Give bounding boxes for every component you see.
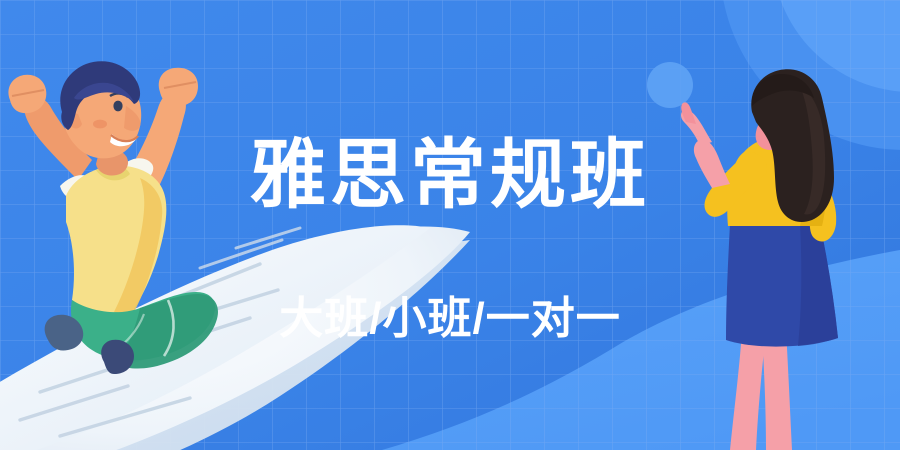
woman-leg-right — [762, 330, 792, 450]
banner-illustrations — [0, 0, 900, 450]
woman-forearm — [694, 140, 730, 188]
man-eye — [113, 101, 122, 112]
woman-skirt-shade — [798, 224, 838, 346]
man-cheek — [93, 120, 107, 129]
man-right-fist — [159, 68, 198, 106]
illustration-woman-pointing — [681, 69, 838, 450]
woman-leg-left — [730, 330, 766, 450]
course-promo-banner: 雅思常规班 大班/小班/一对一 — [0, 0, 900, 450]
illustration-man-on-paper — [0, 61, 470, 450]
